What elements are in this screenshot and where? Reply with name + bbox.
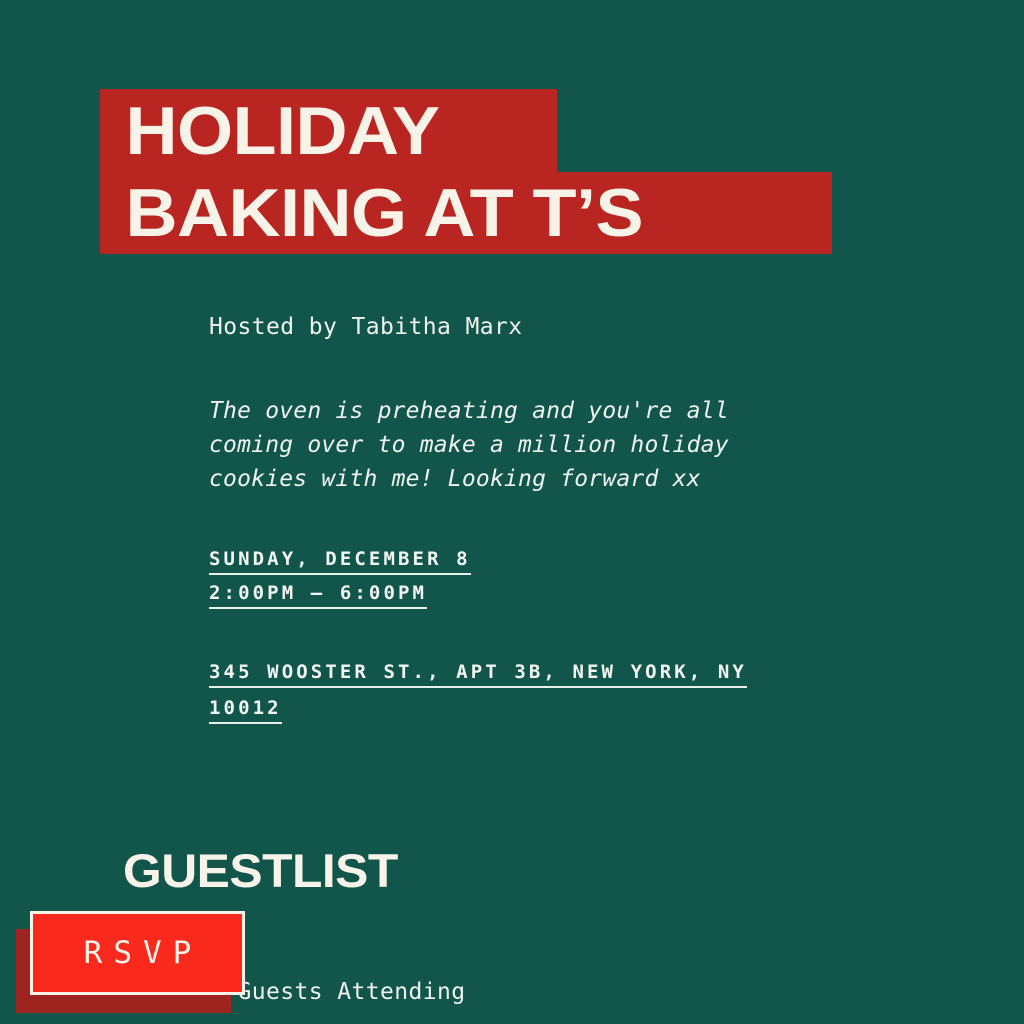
rsvp-button[interactable]: RSVP bbox=[30, 911, 245, 995]
event-date-text: SUNDAY, DECEMBER 8 bbox=[209, 548, 471, 575]
title-bar-line-2: BAKING AT T’S bbox=[100, 172, 832, 254]
guests-attending-count: 0 Guests Attending bbox=[209, 977, 465, 1007]
host-line: Hosted by Tabitha Marx bbox=[209, 312, 849, 342]
rsvp-button-label: RSVP bbox=[73, 938, 203, 969]
page-title-line-1: HOLIDAY bbox=[100, 97, 439, 165]
guestlist-heading: GUESTLIST bbox=[123, 845, 398, 897]
page-title-line-2: BAKING AT T’S bbox=[100, 179, 643, 247]
address-group: 345 WOOSTER ST., APT 3B, NEW YORK, NY 10… bbox=[209, 654, 779, 726]
event-date: SUNDAY, DECEMBER 8 bbox=[209, 542, 849, 576]
event-time: 2:00PM – 6:00PM bbox=[209, 576, 849, 610]
title-bar-line-1: HOLIDAY bbox=[100, 89, 557, 172]
event-time-text: 2:00PM – 6:00PM bbox=[209, 582, 427, 609]
event-address: 345 WOOSTER ST., APT 3B, NEW YORK, NY 10… bbox=[209, 654, 779, 726]
event-description: The oven is preheating and you're all co… bbox=[209, 394, 819, 496]
event-details: Hosted by Tabitha Marx The oven is prehe… bbox=[209, 312, 849, 726]
date-time-group: SUNDAY, DECEMBER 8 2:00PM – 6:00PM bbox=[209, 542, 849, 610]
invitation-card: HOLIDAY BAKING AT T’S Hosted by Tabitha … bbox=[0, 0, 1024, 1024]
event-address-text: 345 WOOSTER ST., APT 3B, NEW YORK, NY 10… bbox=[209, 661, 747, 724]
